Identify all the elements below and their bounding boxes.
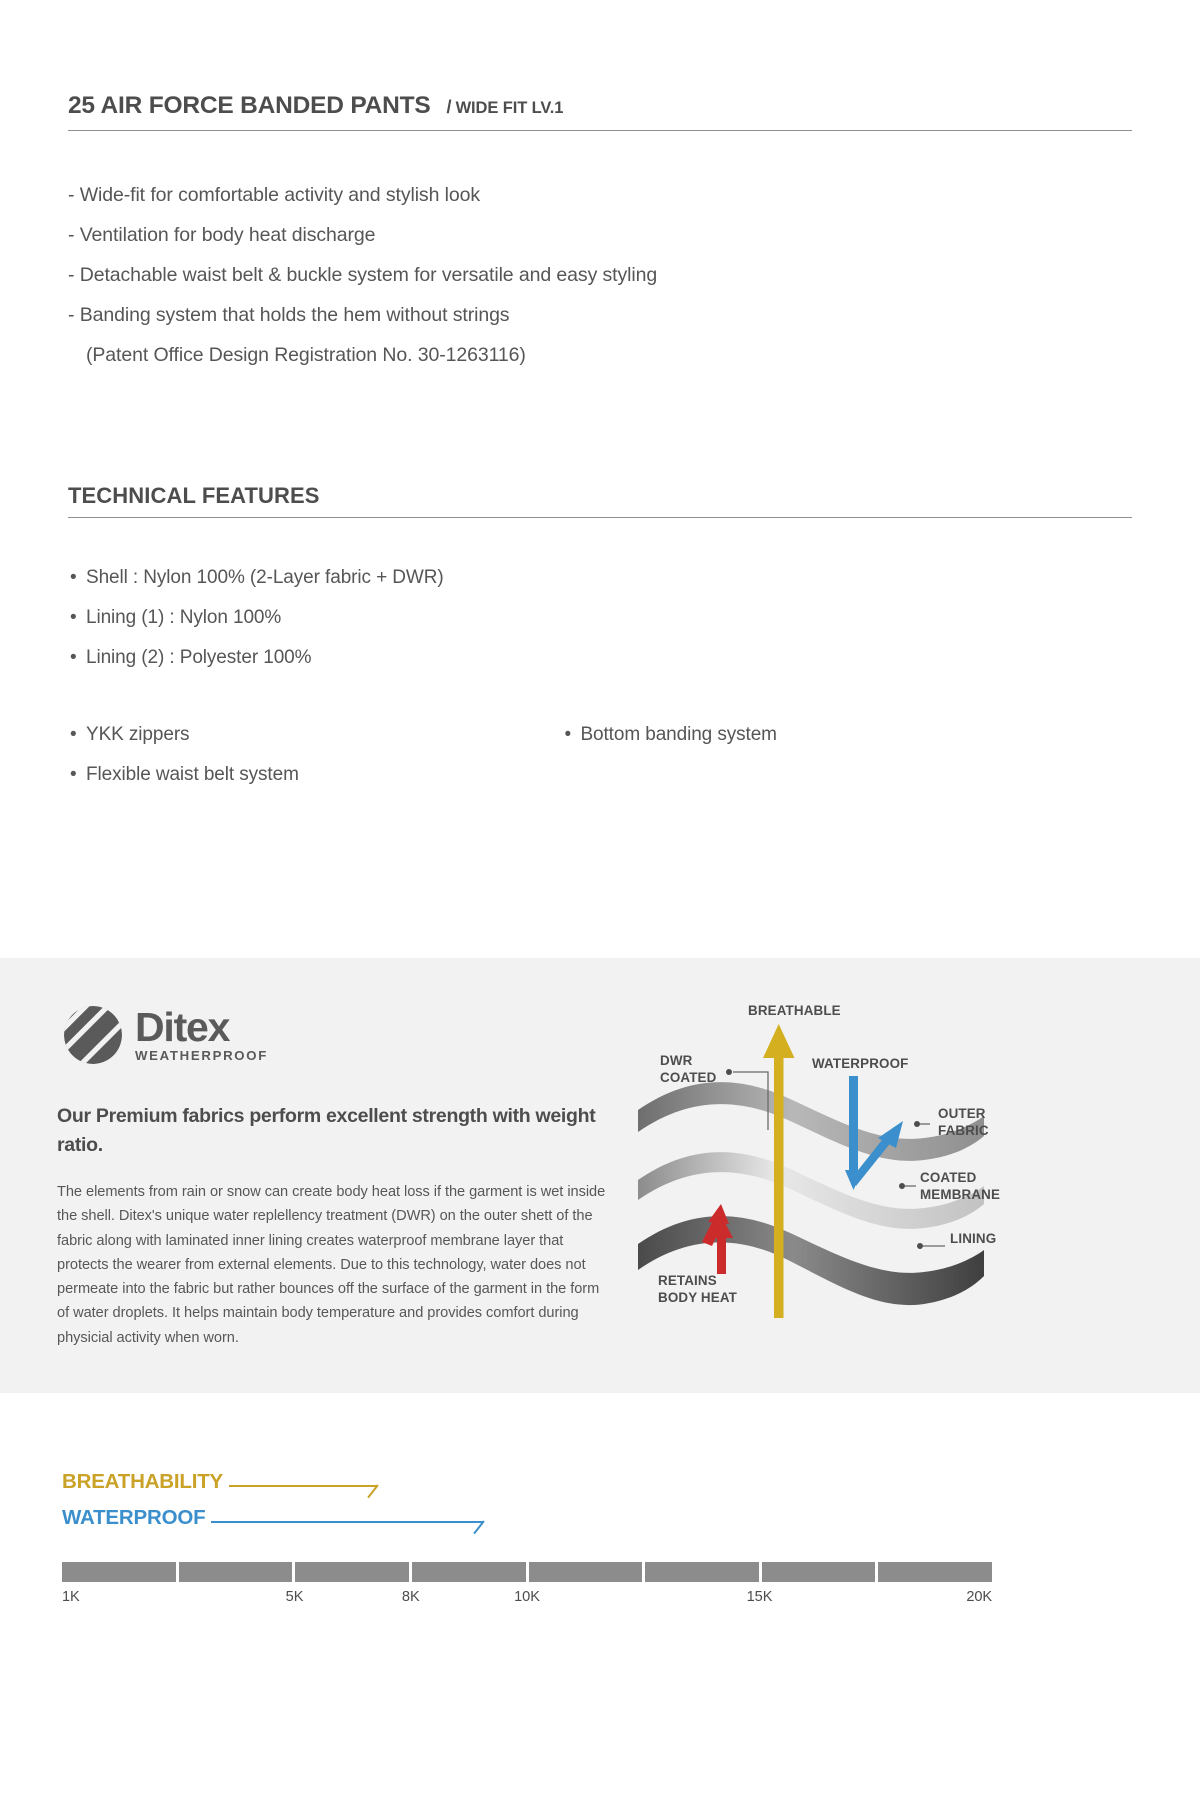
diagram-label-outer-fabric: OUTER FABRIC <box>938 1106 989 1139</box>
material-item: •Lining (2) : Polyester 100% <box>70 638 1200 678</box>
bullet-icon: • <box>70 755 86 795</box>
outer-fabric-leader-line <box>914 1121 930 1127</box>
scale-tick-label: 5K <box>286 1589 304 1605</box>
technical-feature-column-right: •Bottom banding system <box>564 715 776 755</box>
bullet-icon: • <box>70 715 86 755</box>
product-section: 25 AIR FORCE BANDED PANTS / WIDE FIT LV.… <box>0 0 1200 375</box>
diagram-label-dwr-coated: DWR COATED <box>660 1053 716 1086</box>
arrow-shaft <box>229 1485 377 1487</box>
diagram-label-breathable: BREATHABLE <box>748 1003 841 1020</box>
rating-scale-ticks: 1K5K8K10K15K20K <box>62 1589 992 1611</box>
technical-feature-columns: •YKK zippers •Flexible waist belt system… <box>70 715 970 795</box>
scale-legend: BREATHABILITY WATERPROOF <box>62 1470 1200 1548</box>
technical-feature-item: •YKK zippers <box>70 715 560 755</box>
technical-features-heading: TECHNICAL FEATURES <box>68 483 1132 509</box>
material-item-label: Lining (2) : Polyester 100% <box>86 647 311 668</box>
scale-segment <box>62 1562 176 1582</box>
material-item: •Lining (1) : Nylon 100% <box>70 598 1200 638</box>
feature-item: - Detachable waist belt & buckle system … <box>68 255 1200 295</box>
scale-segment <box>412 1562 526 1582</box>
ditex-tagline: WEATHERPROOF <box>135 1048 268 1063</box>
diagram-label-retains-body-heat: RETAINS BODY HEAT <box>658 1273 737 1306</box>
scale-tick-label: 8K <box>402 1589 420 1605</box>
scale-tick-label: 15K <box>747 1589 773 1605</box>
ditex-brand-name: Ditex <box>135 1007 268 1047</box>
page-title: 25 AIR FORCE BANDED PANTS <box>68 92 431 120</box>
lining-leader-line <box>917 1243 945 1249</box>
performance-scale-section: BREATHABILITY WATERPROOF 1K5K8K10K15K20K <box>0 1470 1200 1611</box>
fabric-layer-diagram: BREATHABLE WATERPROOF DWR COATED RETAINS… <box>620 958 1040 1393</box>
rating-scale-bar <box>62 1562 992 1582</box>
material-item: •Shell : Nylon 100% (2-Layer fabric + DW… <box>70 558 1200 598</box>
waterproof-arrow-icon <box>845 1076 903 1190</box>
diagram-label-lining: LINING <box>950 1231 996 1248</box>
legend-row-breathability: BREATHABILITY <box>62 1470 377 1494</box>
legend-row-waterproof: WATERPROOF <box>62 1506 483 1530</box>
product-feature-list: - Wide-fit for comfortable activity and … <box>68 175 1200 375</box>
technical-feature-item: •Bottom banding system <box>564 715 776 755</box>
legend-label-breathability: BREATHABILITY <box>62 1470 223 1494</box>
scale-tick-label: 20K <box>966 1589 992 1605</box>
ditex-logo-mark-icon <box>64 1006 122 1064</box>
technical-feature-column-left: •YKK zippers •Flexible waist belt system <box>70 715 560 795</box>
ditex-logo-text: Ditex WEATHERPROOF <box>135 1007 268 1063</box>
waterproof-range-arrow-icon <box>211 1511 483 1525</box>
scale-segment <box>878 1562 992 1582</box>
material-item-label: Shell : Nylon 100% (2-Layer fabric + DWR… <box>86 567 444 588</box>
patent-registration-note: (Patent Office Design Registration No. 3… <box>68 335 1200 375</box>
material-item-label: Lining (1) : Nylon 100% <box>86 607 281 628</box>
bullet-icon: • <box>70 638 86 678</box>
bullet-icon: • <box>70 598 86 638</box>
technical-feature-label: Bottom banding system <box>580 724 776 745</box>
scale-tick-label: 10K <box>514 1589 540 1605</box>
technical-features-section: TECHNICAL FEATURES •Shell : Nylon 100% (… <box>0 483 1200 795</box>
scale-segment <box>295 1562 409 1582</box>
technical-feature-label: Flexible waist belt system <box>86 764 299 785</box>
coated-membrane-leader-line <box>899 1183 916 1189</box>
title-separator: / <box>447 97 452 118</box>
ditex-lead-text: Our Premium fabrics perform excellent st… <box>57 1102 617 1160</box>
bullet-icon: • <box>564 715 580 755</box>
feature-item: - Banding system that holds the hem with… <box>68 295 1200 335</box>
legend-label-waterproof: WATERPROOF <box>62 1506 205 1530</box>
technical-feature-label: YKK zippers <box>86 724 189 745</box>
layer-outer-fabric <box>638 1082 984 1161</box>
arrow-shaft <box>211 1521 483 1523</box>
material-spec-list: •Shell : Nylon 100% (2-Layer fabric + DW… <box>70 558 1200 678</box>
bullet-icon: • <box>70 558 86 598</box>
breathability-range-arrow-icon <box>229 1475 377 1489</box>
feature-item: - Wide-fit for comfortable activity and … <box>68 175 1200 215</box>
product-subtitle: WIDE FIT LV.1 <box>456 99 564 118</box>
ditex-body-text: The elements from rain or snow can creat… <box>57 1180 609 1350</box>
technical-feature-item: •Flexible waist belt system <box>70 755 560 795</box>
scale-segment <box>179 1562 293 1582</box>
ditex-brand-panel: Ditex WEATHERPROOF Our Premium fabrics p… <box>0 958 1200 1393</box>
diagram-label-coated-membrane: COATED MEMBRANE <box>920 1170 1000 1203</box>
scale-segment <box>645 1562 759 1582</box>
scale-segment <box>762 1562 876 1582</box>
ditex-logo: Ditex WEATHERPROOF <box>64 1006 268 1064</box>
feature-item: - Ventilation for body heat discharge <box>68 215 1200 255</box>
product-title-row: 25 AIR FORCE BANDED PANTS / WIDE FIT LV.… <box>68 92 1132 131</box>
spec-sheet-page: 25 AIR FORCE BANDED PANTS / WIDE FIT LV.… <box>0 0 1200 1800</box>
diagram-label-waterproof: WATERPROOF <box>812 1056 908 1073</box>
technical-heading-row: TECHNICAL FEATURES <box>68 483 1132 518</box>
scale-tick-label: 1K <box>62 1589 80 1605</box>
scale-segment <box>529 1562 643 1582</box>
